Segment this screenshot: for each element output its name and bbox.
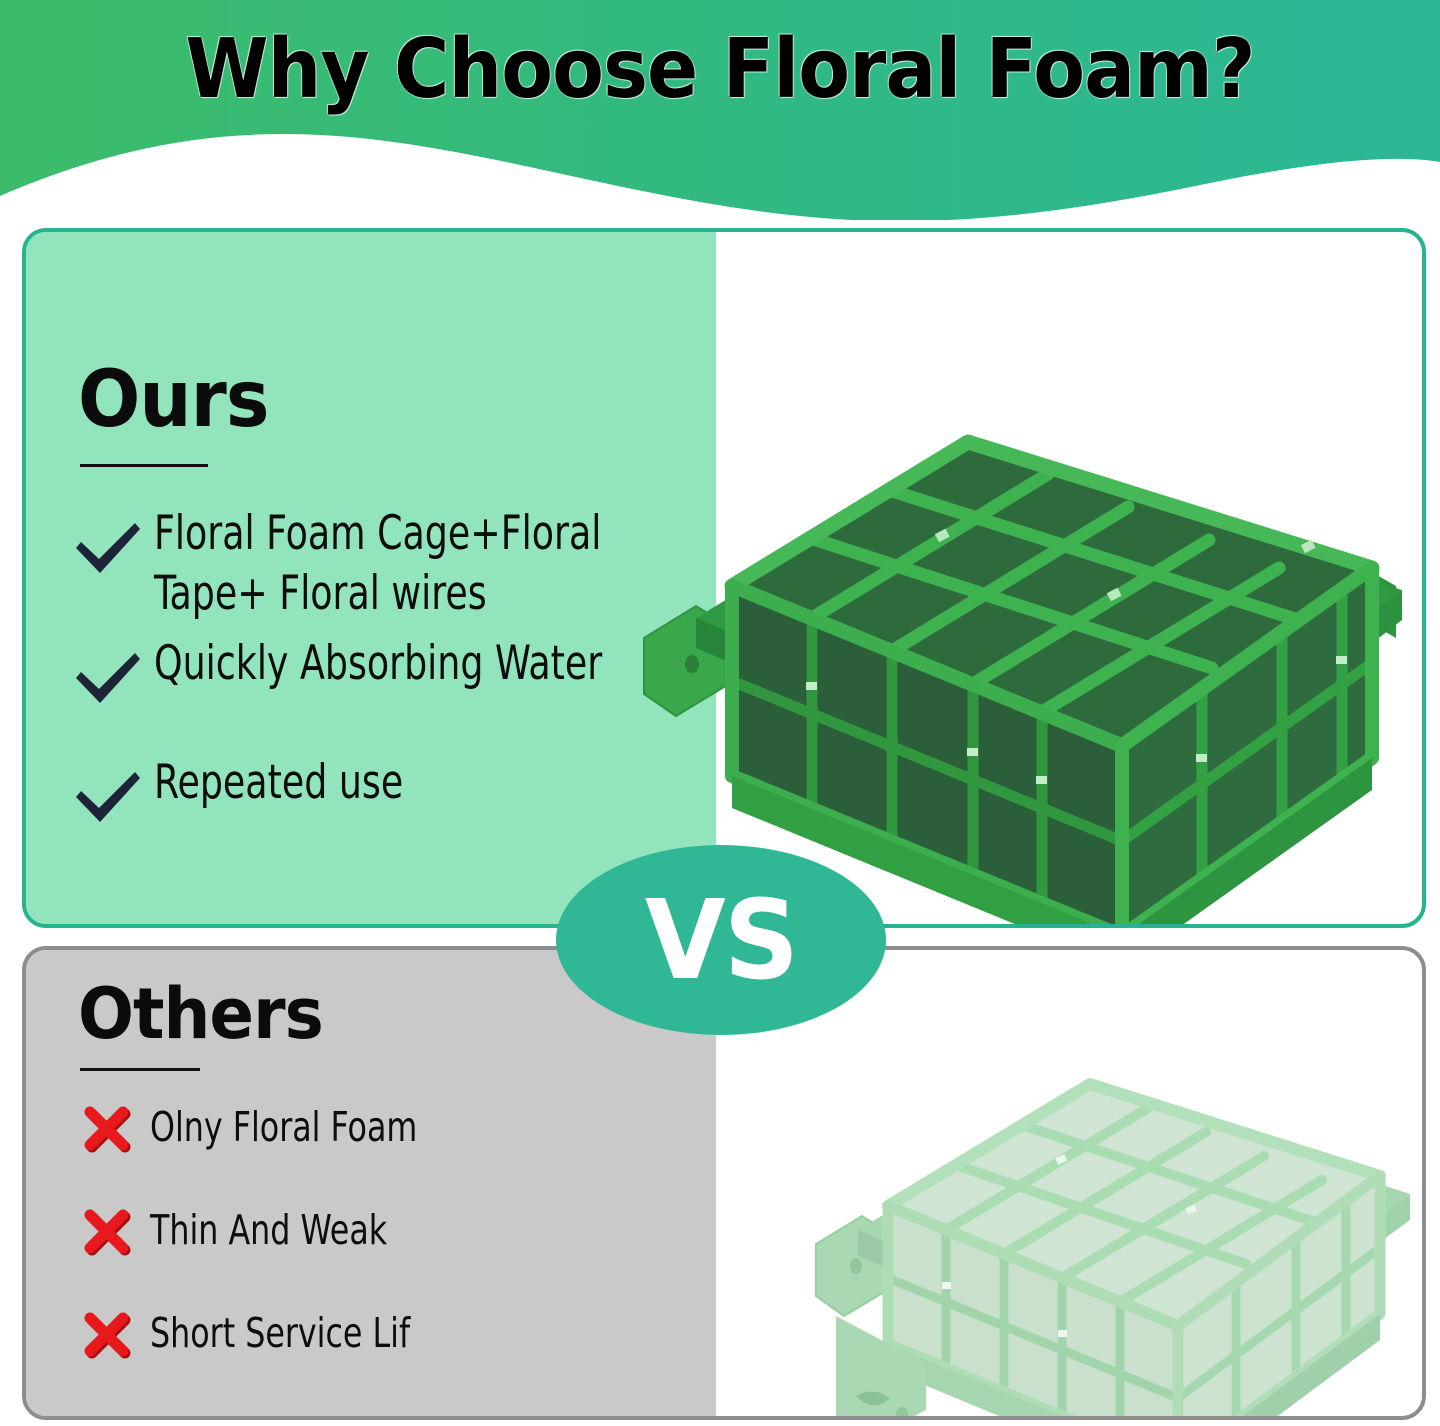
list-item-label: Quickly Absorbing Water bbox=[154, 630, 602, 694]
page-title: Why Choose Floral Foam? bbox=[58, 18, 1383, 122]
list-item: Repeated use bbox=[70, 749, 750, 840]
comparison-infographic: Why Choose Floral Foam? Ours bbox=[0, 0, 1440, 1426]
ours-heading-rule bbox=[80, 464, 208, 467]
vs-badge: VS bbox=[556, 845, 886, 1035]
list-item-label: Floral Foam Cage+Floral Tape+ Floral wir… bbox=[154, 500, 601, 624]
cross-icon bbox=[70, 1203, 136, 1266]
vs-badge-label: VS bbox=[564, 845, 878, 1035]
list-item: Floral Foam Cage+Floral Tape+ Floral wir… bbox=[70, 500, 750, 624]
others-heading-rule bbox=[80, 1068, 200, 1071]
check-icon bbox=[70, 749, 144, 840]
list-item-label: Repeated use bbox=[154, 749, 403, 813]
list-item: Olny Floral Foam bbox=[70, 1100, 710, 1163]
list-item: Short Service Lif bbox=[70, 1306, 710, 1369]
check-icon bbox=[70, 630, 144, 721]
cross-icon bbox=[70, 1100, 136, 1163]
ours-feature-list: Floral Foam Cage+Floral Tape+ Floral wir… bbox=[70, 500, 750, 846]
others-heading: Others bbox=[78, 978, 323, 1050]
list-item-label: Thin And Weak bbox=[150, 1203, 387, 1255]
ours-panel: Ours bbox=[22, 228, 1426, 928]
ours-product-image bbox=[636, 246, 1426, 926]
others-feature-list: Olny Floral Foam Thin And bbox=[70, 1100, 710, 1409]
ours-heading: Ours bbox=[78, 360, 269, 440]
others-product-image bbox=[806, 946, 1426, 1420]
list-item: Quickly Absorbing Water bbox=[70, 630, 750, 721]
list-item: Thin And Weak bbox=[70, 1203, 710, 1266]
check-icon bbox=[70, 500, 144, 591]
header-banner: Why Choose Floral Foam? bbox=[0, 0, 1440, 220]
list-item-label: Olny Floral Foam bbox=[150, 1100, 417, 1152]
list-item-label: Short Service Lif bbox=[150, 1306, 410, 1358]
cross-icon bbox=[70, 1306, 136, 1369]
